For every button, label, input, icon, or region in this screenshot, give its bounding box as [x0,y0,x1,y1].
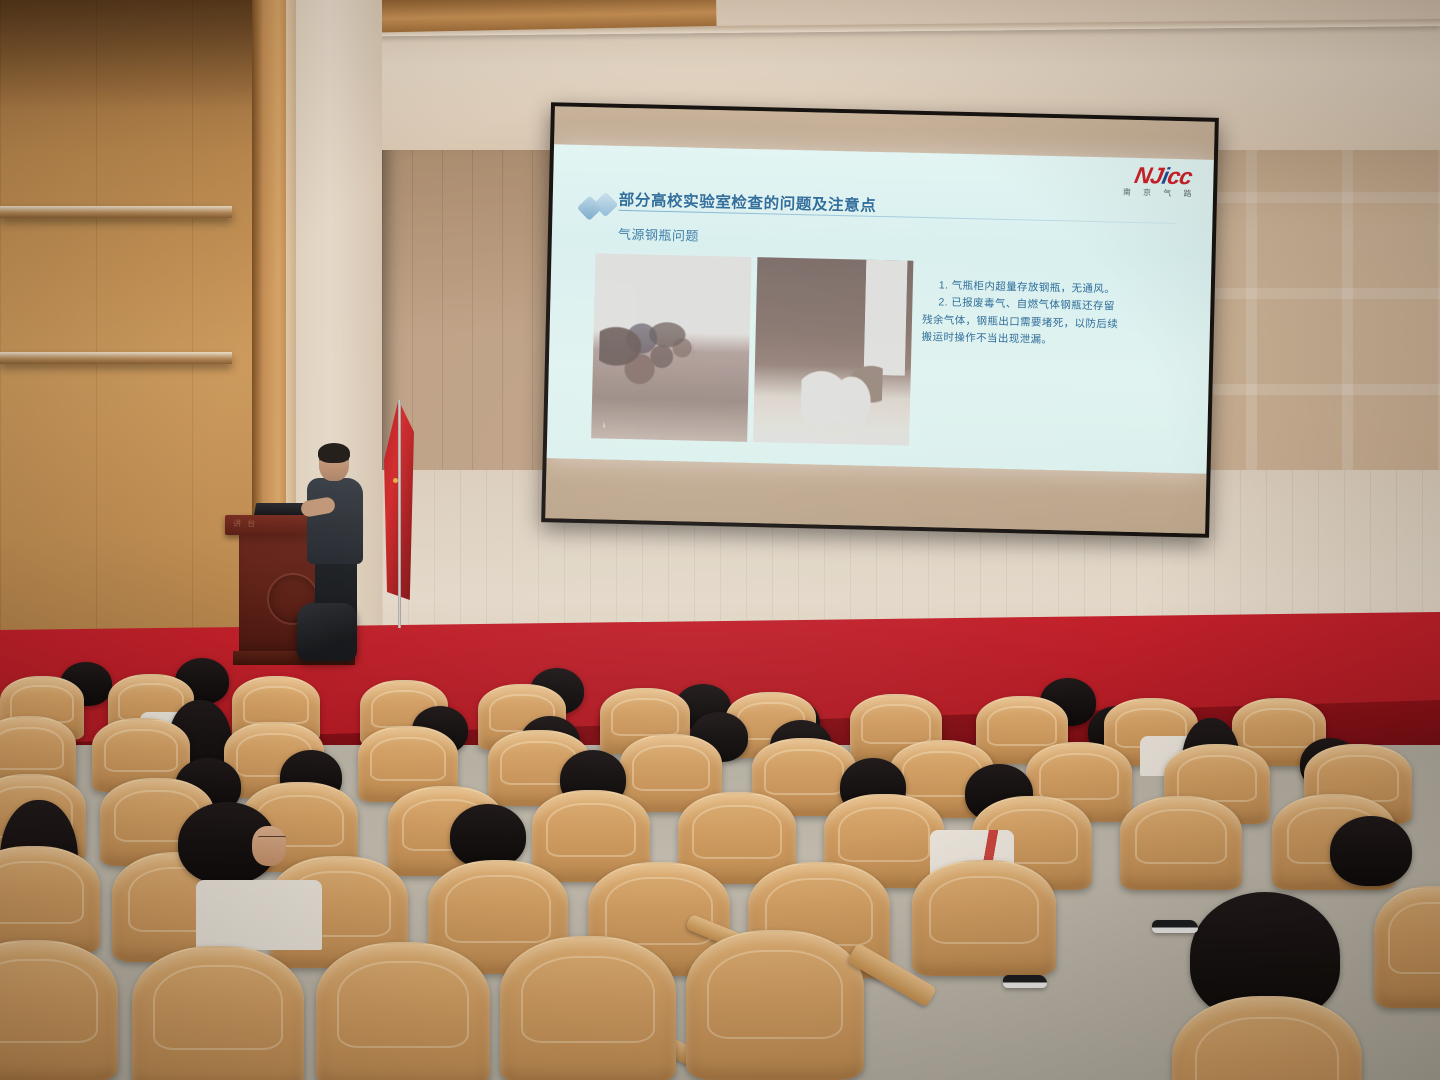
seat [1172,996,1362,1080]
seat [1374,886,1440,1008]
seat [132,946,304,1080]
auditorium-scene: NJicc 南 京 气 路 部分高校实验室检查的问题及注意点 气源钢瓶问题 [0,0,1440,1080]
projected-slide: NJicc 南 京 气 路 部分高校实验室检查的问题及注意点 气源钢瓶问题 [547,144,1214,473]
screen-surface: NJicc 南 京 气 路 部分高校实验室检查的问题及注意点 气源钢瓶问题 [545,106,1215,533]
slide-photo-row [591,253,913,445]
audience-shirt [196,880,322,950]
eyeglasses-icon [258,836,286,844]
wood-shelf-lower [0,352,232,364]
photo-gas-cylinder-cabinet-left [591,253,751,442]
seat [0,940,118,1080]
audience-shoe [1003,975,1047,988]
slide-content: NJicc 南 京 气 路 部分高校实验室检查的问题及注意点 气源钢瓶问题 [547,144,1214,473]
projection-screen: NJicc 南 京 气 路 部分高校实验室检查的问题及注意点 气源钢瓶问题 [541,102,1219,538]
audience-seating [0,640,1440,1080]
njcci-logo: NJicc 南 京 气 路 [1122,164,1202,199]
seat [1120,796,1242,890]
audience-head [450,804,526,868]
njcci-logo-wordmark: NJicc [1124,164,1202,189]
seat [0,846,100,954]
wood-shelf-upper [0,206,232,218]
photo-gas-cylinder-cabinet-right [753,257,913,446]
seat [686,930,864,1080]
podium-label: 讲 台 [233,518,257,529]
logo-text-cci: cc [1166,163,1195,189]
audience-head [1330,816,1412,886]
speaker-hair [318,443,350,463]
seat [500,936,676,1080]
speaker-torso [307,478,363,564]
audience-shoe [1152,920,1198,933]
slide-subtitle: 气源钢瓶问题 [618,224,699,245]
njcci-logo-subtitle: 南 京 气 路 [1123,189,1197,199]
audience-face [252,826,286,866]
slide-body-text: 1. 气瓶柜内超量存放钢瓶，无通风。 2. 已报废毒气、自燃气体钢瓶还存留 残余… [921,277,1185,352]
seat [912,860,1056,976]
podium-group: 讲 台 [225,455,415,670]
seat [316,942,490,1080]
slide-title-underline [618,210,1176,224]
